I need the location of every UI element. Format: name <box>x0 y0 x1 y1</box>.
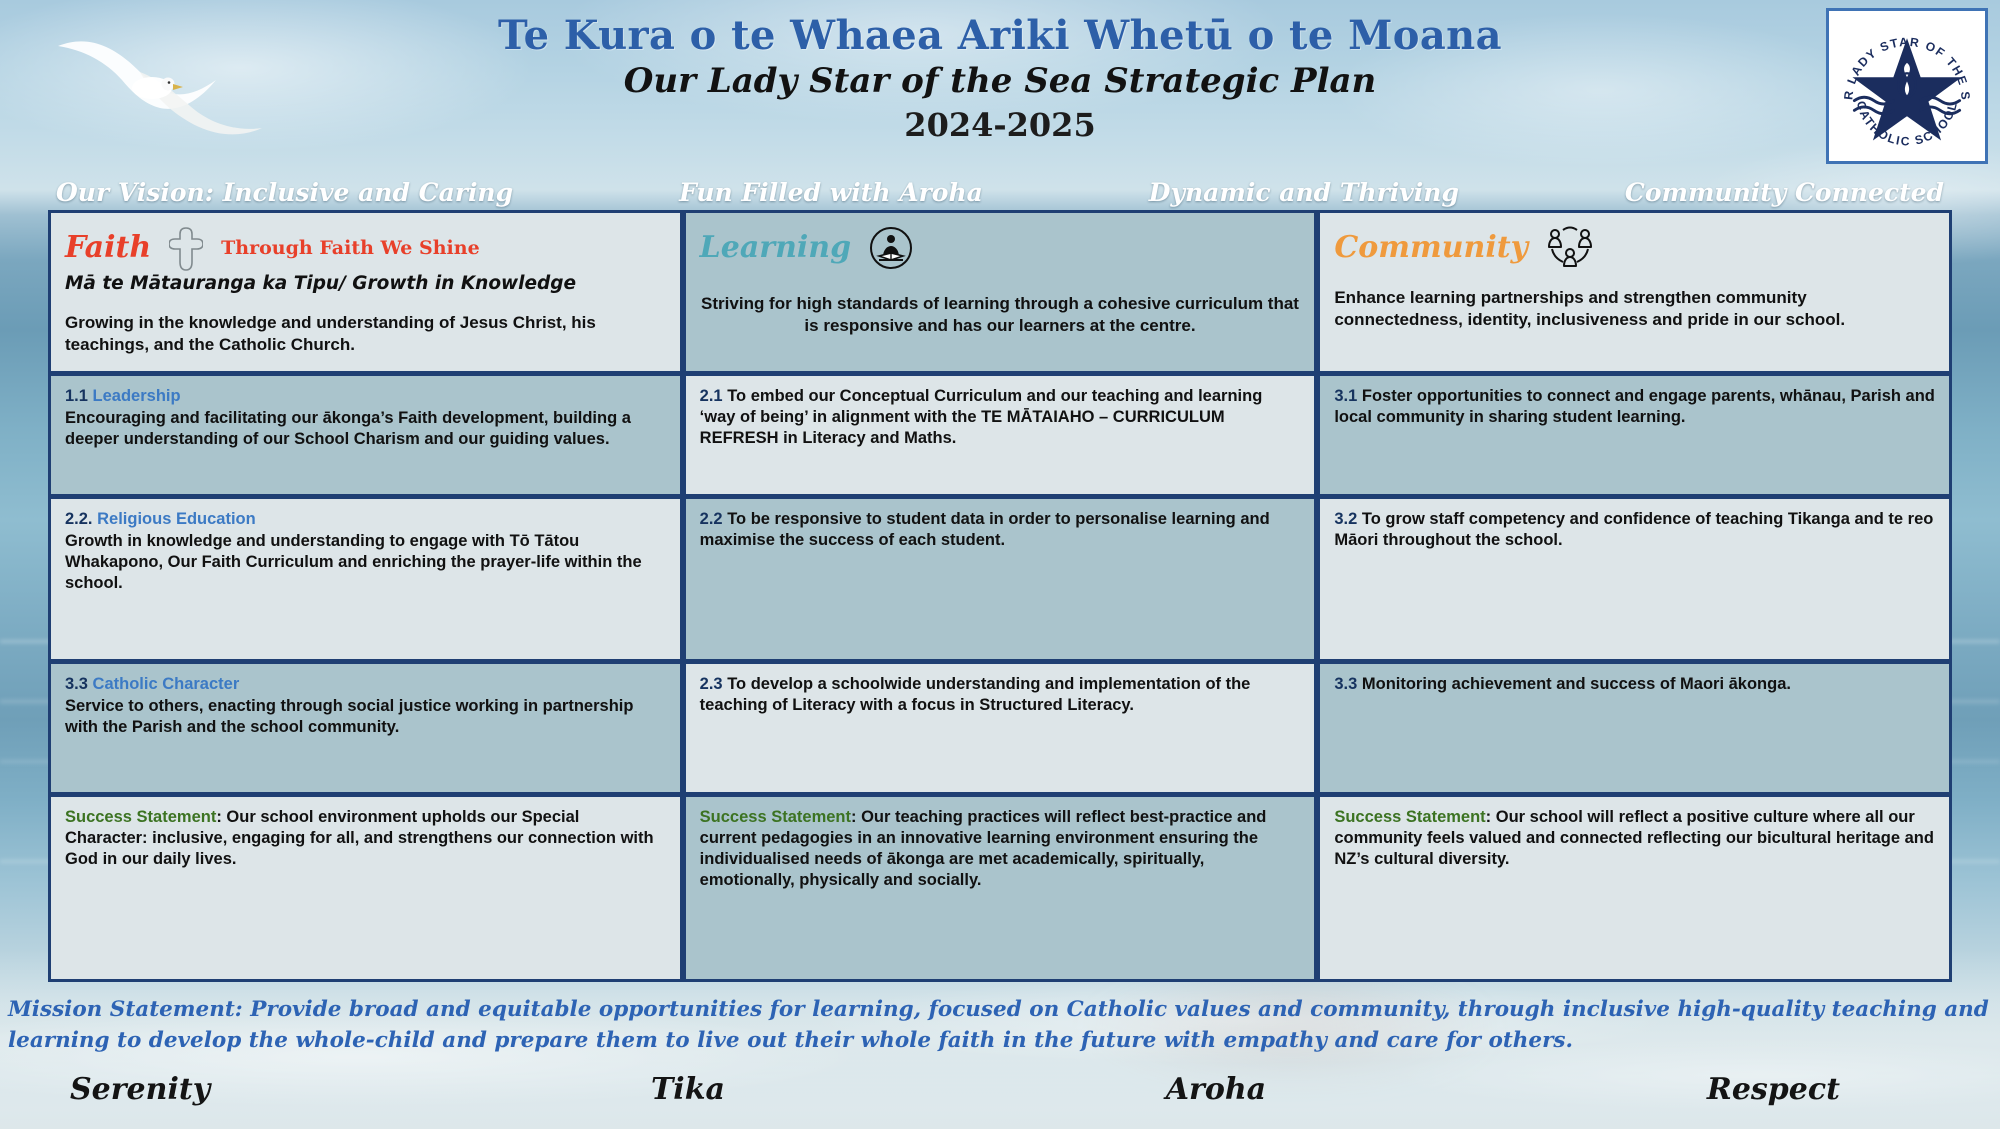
school-logo: OUR LADY STAR OF THE SEA CATHOLIC SCHOOL <box>1826 8 1988 164</box>
goal-text: To embed our Conceptual Curriculum and o… <box>700 387 1263 447</box>
learning-goal-2: 2.2 To be responsive to student data in … <box>686 499 1315 659</box>
goal-tag: Religious Education <box>97 510 256 528</box>
goal-text: Monitoring achievement and success of Ma… <box>1362 675 1791 693</box>
community-success-statement: Success Statement: Our school will refle… <box>1320 797 1949 979</box>
success-label: Success Statement <box>700 808 851 826</box>
column-community: Community <box>1320 213 1949 979</box>
learning-success-statement: Success Statement: Our teaching practice… <box>686 797 1315 979</box>
pillar-subtitle-faith: Mā te Mātauranga ka Tipu/ Growth in Know… <box>65 272 666 296</box>
goal-text: To develop a schoolwide understanding an… <box>700 675 1251 714</box>
value-respect: Respect <box>1707 1072 1840 1107</box>
goal-number: 2.2 <box>700 510 723 528</box>
vision-lead: Our Vision: Inclusive and Caring <box>56 178 513 207</box>
pillar-description-learning: Striving for high standards of learning … <box>700 293 1301 337</box>
faith-header-cell: Faith Through Faith We Shine Mā te Mātau… <box>51 213 680 371</box>
pillar-name-community: Community <box>1334 233 1528 263</box>
goal-tag: Catholic Character <box>93 675 240 693</box>
goal-number: 2.3 <box>700 675 723 693</box>
goal-tag: Leadership <box>93 387 181 405</box>
mission-statement: Mission Statement: Provide broad and equ… <box>8 995 1992 1056</box>
value-serenity: Serenity <box>70 1072 210 1107</box>
goal-number: 3.3 <box>1334 675 1357 693</box>
column-faith: Faith Through Faith We Shine Mā te Mātau… <box>51 213 680 979</box>
pillar-name-faith: Faith <box>65 233 151 263</box>
values-strip: Serenity Tika Aroha Respect <box>0 1072 2000 1107</box>
success-label: Success Statement <box>1334 808 1485 826</box>
value-aroha: Aroha <box>1166 1072 1266 1107</box>
title-maori: Te Kura o te Whaea Ariki Whetū o te Moan… <box>0 14 2000 59</box>
success-label: Success Statement <box>65 808 216 826</box>
pillar-description-community: Enhance learning partnerships and streng… <box>1334 287 1935 331</box>
goal-text: Encouraging and facilitating our ākonga’… <box>65 408 666 450</box>
pillar-description-faith: Growing in the knowledge and understandi… <box>65 312 666 356</box>
learning-header-cell: Learning Striving for high standards of … <box>686 213 1315 371</box>
faith-goal-3: 3.3 Catholic Character Service to others… <box>51 664 680 792</box>
goal-text: Growth in knowledge and understanding to… <box>65 531 666 594</box>
vision-item-aroha: Fun Filled with Aroha <box>679 178 983 207</box>
community-header-cell: Community <box>1320 213 1949 371</box>
community-goal-2: 3.2 To grow staff competency and confide… <box>1320 499 1949 659</box>
goal-number: 2.1 <box>700 387 723 405</box>
goal-number: 3.1 <box>1334 387 1357 405</box>
vision-item-community: Community Connected <box>1625 178 1944 207</box>
community-goal-1: 3.1 Foster opportunities to connect and … <box>1320 376 1949 494</box>
goal-text: To be responsive to student data in orde… <box>700 510 1270 549</box>
column-learning: Learning Striving for high standards of … <box>686 213 1315 979</box>
vision-item-dynamic: Dynamic and Thriving <box>1149 178 1459 207</box>
faith-success-statement: Success Statement: Our school environmen… <box>51 797 680 979</box>
goal-number: 1.1 <box>65 387 88 405</box>
goal-text: To grow staff competency and confidence … <box>1334 510 1933 549</box>
title-years: 2024-2025 <box>0 108 2000 143</box>
goal-number: 3.2 <box>1334 510 1357 528</box>
page-header: Te Kura o te Whaea Ariki Whetū o te Moan… <box>0 0 2000 143</box>
pillar-name-learning: Learning <box>700 233 851 263</box>
title-english: Our Lady Star of the Sea Strategic Plan <box>0 61 2000 102</box>
faith-goal-2: 2.2. Religious Education Growth in knowl… <box>51 499 680 659</box>
cross-icon <box>169 225 203 271</box>
community-goal-3: 3.3 Monitoring achievement and success o… <box>1320 664 1949 792</box>
learning-goal-3: 2.3 To develop a schoolwide understandin… <box>686 664 1315 792</box>
faith-goal-1: 1.1 Leadership Encouraging and facilitat… <box>51 376 680 494</box>
learning-goal-1: 2.1 To embed our Conceptual Curriculum a… <box>686 376 1315 494</box>
vision-strip: Our Vision: Inclusive and Caring Fun Fil… <box>0 178 2000 207</box>
goal-text: Service to others, enacting through soci… <box>65 696 666 738</box>
strategic-plan-table: Faith Through Faith We Shine Mā te Mātau… <box>48 210 1952 982</box>
goal-number: 3.3 <box>65 675 88 693</box>
goal-text: Foster opportunities to connect and enga… <box>1334 387 1935 426</box>
student-reading-icon <box>869 226 913 270</box>
pillar-motto-faith: Through Faith We Shine <box>221 236 480 260</box>
people-group-icon <box>1546 225 1594 271</box>
value-tika: Tika <box>651 1072 725 1107</box>
goal-number: 2.2. <box>65 510 93 528</box>
